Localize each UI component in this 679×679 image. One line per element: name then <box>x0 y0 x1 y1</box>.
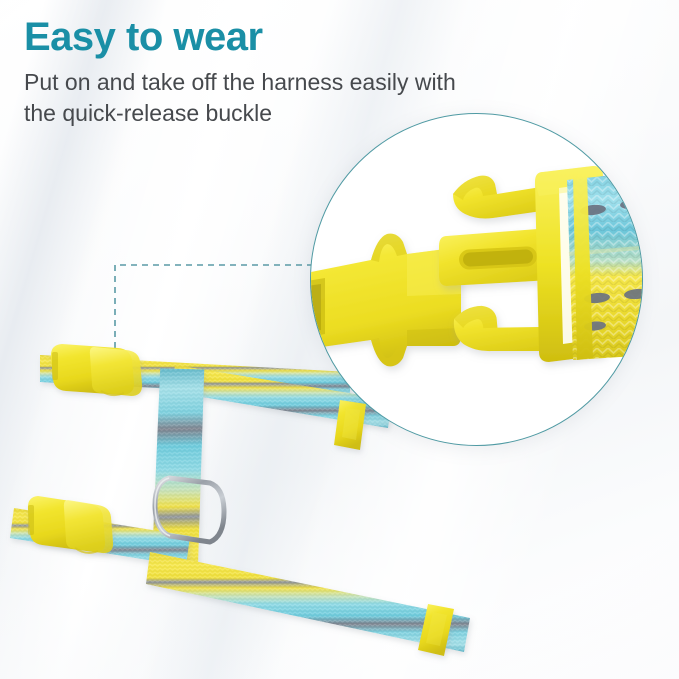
female-buckle-socket <box>311 234 461 367</box>
page-title-text: Easy to wear <box>24 15 263 59</box>
quick-release-buckle-closeup <box>310 113 643 446</box>
webbing-strap-end <box>567 170 642 360</box>
product-feature-image: Easy to wear Put on and take off the har… <box>0 0 679 679</box>
page-title: Easy to wear <box>24 14 263 60</box>
buckle-location-marker <box>106 362 123 379</box>
magnifier-contents <box>311 114 642 445</box>
marker-dot-icon <box>111 367 118 374</box>
page-subtitle-line-1: Put on and take off the harness easily w… <box>24 67 609 98</box>
text-block: Easy to wear Put on and take off the har… <box>24 14 624 129</box>
buckle-detail-illustration <box>311 114 642 445</box>
